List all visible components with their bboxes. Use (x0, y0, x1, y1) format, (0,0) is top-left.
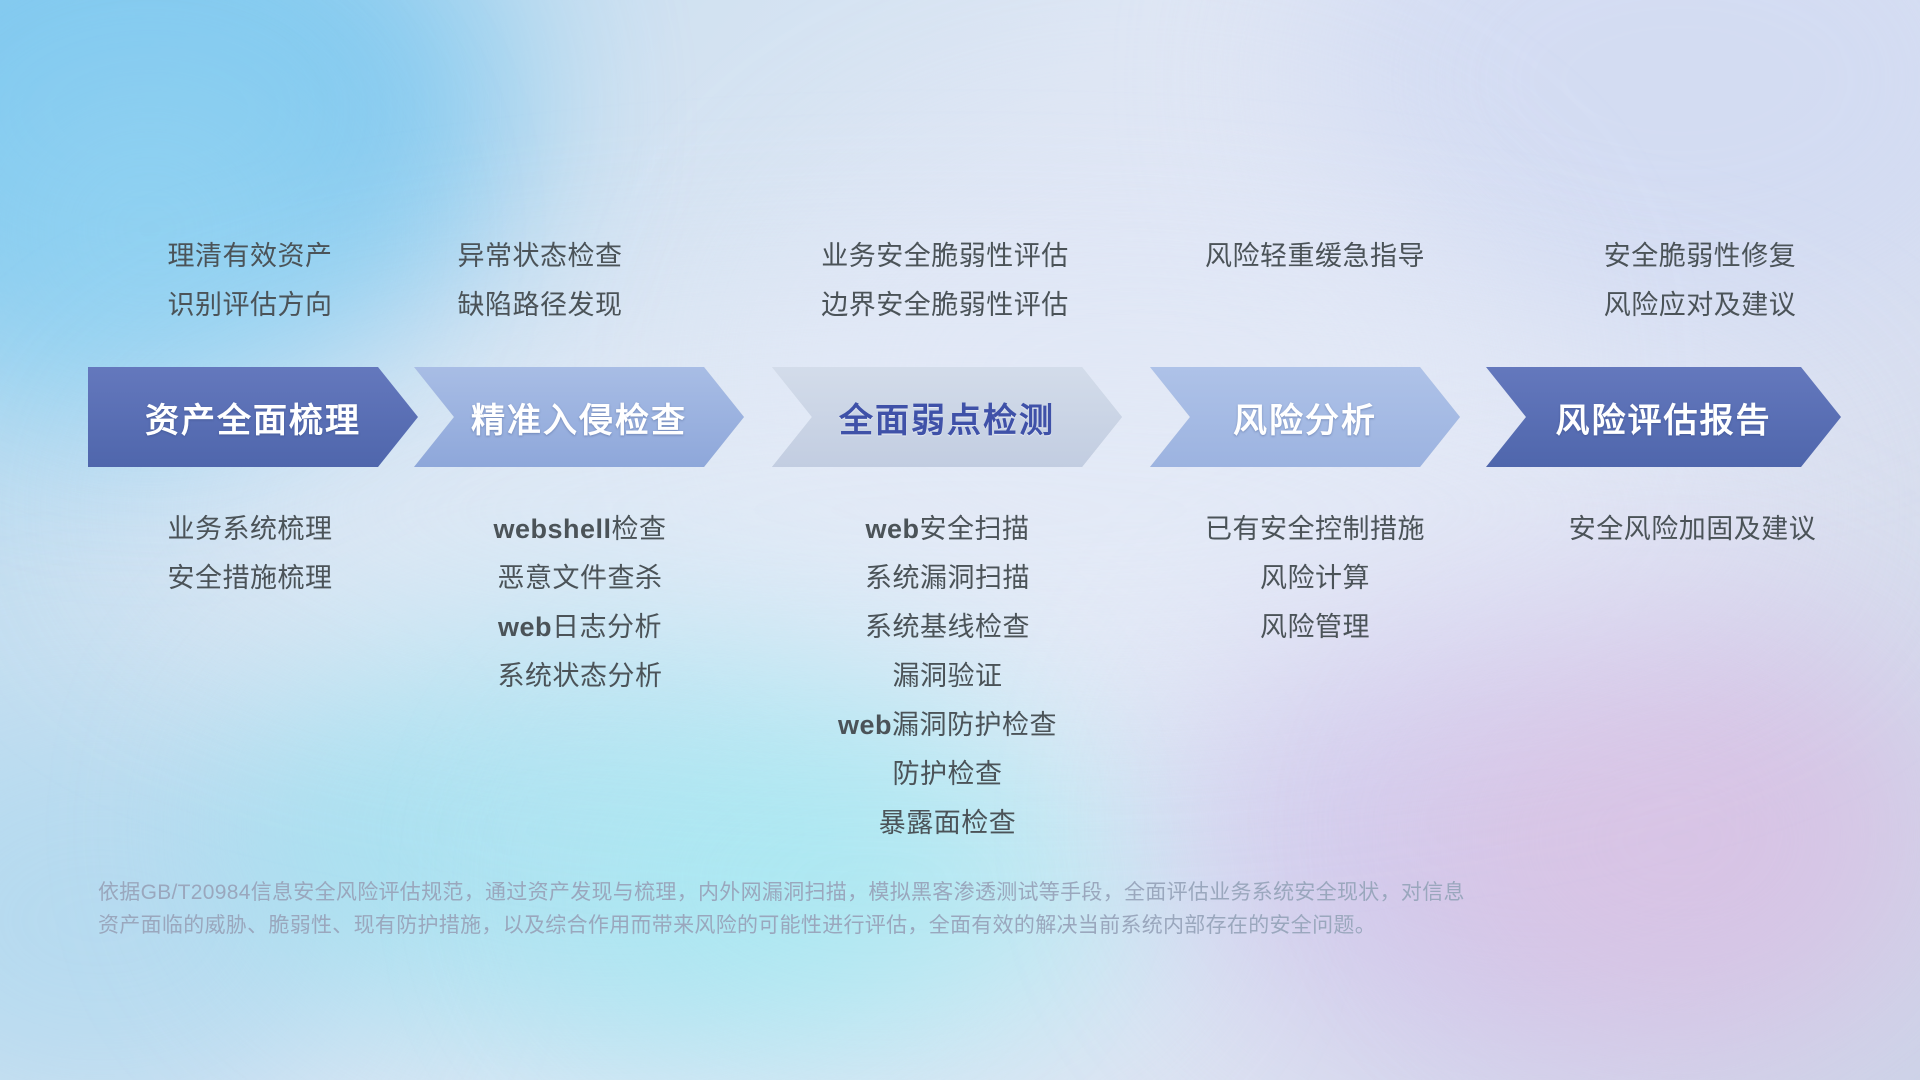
step-3-bottom-item-7: 暴露面检查 (775, 799, 1120, 848)
step-3-bottom-item-2: 系统漏洞扫描 (775, 554, 1120, 603)
step-4-bottom-items: 已有安全控制措施 风险计算 风险管理 (1150, 505, 1480, 652)
footer-note: 依据GB/T20984信息安全风险评估规范，通过资产发现与梳理，内外网漏洞扫描，… (98, 876, 1818, 942)
step-2-bottom-item-1: webshell检查 (415, 505, 745, 554)
step-3-top-item-2: 边界安全脆弱性评估 (780, 281, 1110, 330)
step-3-top-item-1: 业务安全脆弱性评估 (780, 232, 1110, 281)
step-2-bottom-items: webshell检查 恶意文件查杀 web日志分析 系统状态分析 (415, 505, 745, 701)
latin-token: web (865, 514, 919, 544)
step-4-bottom-item-2: 风险计算 (1150, 554, 1480, 603)
step-5-bottom-item-1: 安全风险加固及建议 (1520, 505, 1865, 554)
step-3-bottom-item-4: 漏洞验证 (775, 652, 1120, 701)
step-2-bottom-item-2: 恶意文件查杀 (415, 554, 745, 603)
step-3-bottom-item-1: web安全扫描 (775, 505, 1120, 554)
process-step-asset-inventory[interactable]: 资产全面梳理 (88, 367, 418, 467)
top-items-row: 理清有效资产 识别评估方向 异常状态检查 缺陷路径发现 业务安全脆弱性评估 边界… (0, 232, 1920, 352)
step-5-top-items: 安全脆弱性修复 风险应对及建议 (1535, 232, 1865, 330)
step-5-bottom-items: 安全风险加固及建议 (1520, 505, 1865, 554)
footer-note-line-2: 资产面临的威胁、脆弱性、现有防护措施，以及综合作用而带来风险的可能性进行评估，全… (98, 909, 1818, 942)
slide-content: 理清有效资产 识别评估方向 异常状态检查 缺陷路径发现 业务安全脆弱性评估 边界… (0, 0, 1920, 1080)
step-1-top-item-2: 识别评估方向 (85, 281, 415, 330)
latin-token: web (498, 612, 552, 642)
step-5-top-item-2: 风险应对及建议 (1535, 281, 1865, 330)
step-1-top-items: 理清有效资产 识别评估方向 (85, 232, 415, 330)
step-1-bottom-item-1: 业务系统梳理 (85, 505, 415, 554)
process-step-weakness-detection[interactable]: 全面弱点检测 (772, 367, 1122, 467)
step-4-bottom-item-3: 风险管理 (1150, 603, 1480, 652)
step-4-top-item-1: 风险轻重缓急指导 (1150, 232, 1480, 281)
step-5-top-item-1: 安全脆弱性修复 (1535, 232, 1865, 281)
step-3-bottom-item-3: 系统基线检查 (775, 603, 1120, 652)
process-step-2-label: 精准入侵检查 (471, 393, 687, 442)
step-1-bottom-items: 业务系统梳理 安全措施梳理 (85, 505, 415, 603)
step-2-top-item-1: 异常状态检查 (375, 232, 705, 281)
process-step-risk-report[interactable]: 风险评估报告 (1486, 367, 1841, 467)
process-chevron-band: 资产全面梳理 精准入侵检查 全面弱点检测 风险分析 风险评估报告 (0, 367, 1920, 467)
step-1-bottom-item-2: 安全措施梳理 (85, 554, 415, 603)
step-2-bottom-item-3: web日志分析 (415, 603, 745, 652)
process-step-1-label: 资产全面梳理 (145, 393, 361, 442)
latin-token: webshell (493, 514, 611, 544)
step-1-top-item-1: 理清有效资产 (85, 232, 415, 281)
step-2-bottom-item-4: 系统状态分析 (415, 652, 745, 701)
process-step-intrusion-check[interactable]: 精准入侵检查 (414, 367, 744, 467)
step-3-bottom-item-5: web漏洞防护检查 (775, 701, 1120, 750)
footer-note-line-1: 依据GB/T20984信息安全风险评估规范，通过资产发现与梳理，内外网漏洞扫描，… (98, 876, 1818, 909)
process-step-4-label: 风险分析 (1233, 393, 1377, 442)
step-4-bottom-item-1: 已有安全控制措施 (1150, 505, 1480, 554)
step-2-top-item-2: 缺陷路径发现 (375, 281, 705, 330)
step-3-bottom-items: web安全扫描 系统漏洞扫描 系统基线检查 漏洞验证 web漏洞防护检查 防护检… (775, 505, 1120, 848)
process-step-3-label: 全面弱点检测 (839, 393, 1055, 442)
slide-canvas: 理清有效资产 识别评估方向 异常状态检查 缺陷路径发现 业务安全脆弱性评估 边界… (0, 0, 1920, 1080)
step-2-top-items: 异常状态检查 缺陷路径发现 (375, 232, 705, 330)
process-step-5-label: 风险评估报告 (1556, 393, 1772, 442)
process-step-risk-analysis[interactable]: 风险分析 (1150, 367, 1460, 467)
step-3-top-items: 业务安全脆弱性评估 边界安全脆弱性评估 (780, 232, 1110, 330)
latin-token: web (838, 710, 892, 740)
step-4-top-items: 风险轻重缓急指导 (1150, 232, 1480, 281)
step-3-bottom-item-6: 防护检查 (775, 750, 1120, 799)
